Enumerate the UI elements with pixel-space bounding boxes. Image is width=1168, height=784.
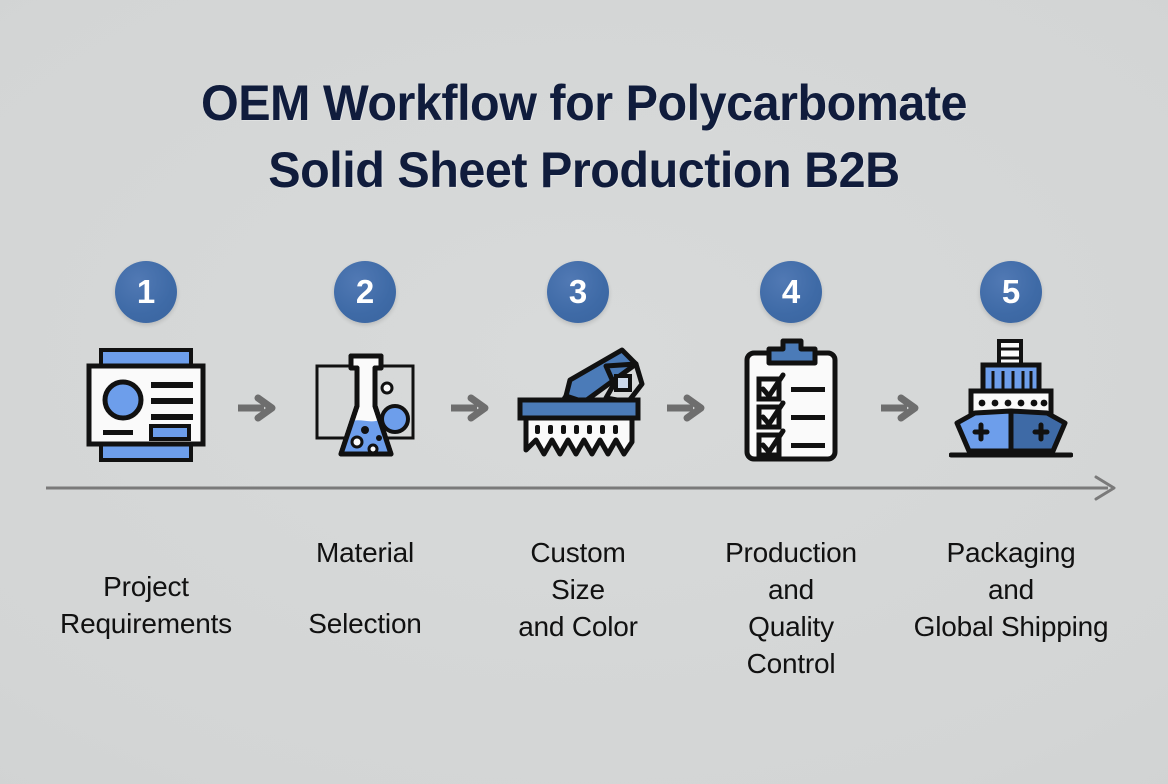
step-label-5-line-2: and [871, 571, 1151, 608]
step-label-5-line-1: Packaging [871, 534, 1151, 571]
workflow-steps: 1 Project Requirements [0, 0, 1168, 784]
step-number-5: 5 [1002, 275, 1020, 308]
document-card-icon [83, 344, 209, 466]
infographic-canvas: OEM Workflow for Polycarbomate Solid She… [0, 0, 1168, 784]
step-icon-5 [949, 336, 1073, 466]
clipboard-checklist-icon [739, 337, 843, 465]
step-icon-1 [82, 340, 210, 470]
step-badge-3: 3 [547, 261, 609, 323]
step-number-4: 4 [782, 275, 800, 308]
step-badge-2: 2 [334, 261, 396, 323]
flask-beaker-icon [307, 344, 423, 466]
step-icon-4 [739, 336, 843, 466]
step-label-4-line-4: Control [651, 645, 931, 682]
step-badge-5: 5 [980, 261, 1042, 323]
cargo-ship-icon [949, 337, 1073, 465]
step-label-5: Packaging and Global Shipping [871, 534, 1151, 645]
step-number-3: 3 [569, 275, 587, 308]
step-number-1: 1 [137, 275, 155, 308]
step-number-2: 2 [356, 275, 374, 308]
step-icon-3 [510, 338, 646, 468]
step-badge-1: 1 [115, 261, 177, 323]
cutting-tool-sheet-icon [510, 340, 646, 466]
step-badge-4: 4 [760, 261, 822, 323]
step-icon-2 [301, 340, 429, 470]
step-label-5-line-3: Global Shipping [871, 608, 1151, 645]
